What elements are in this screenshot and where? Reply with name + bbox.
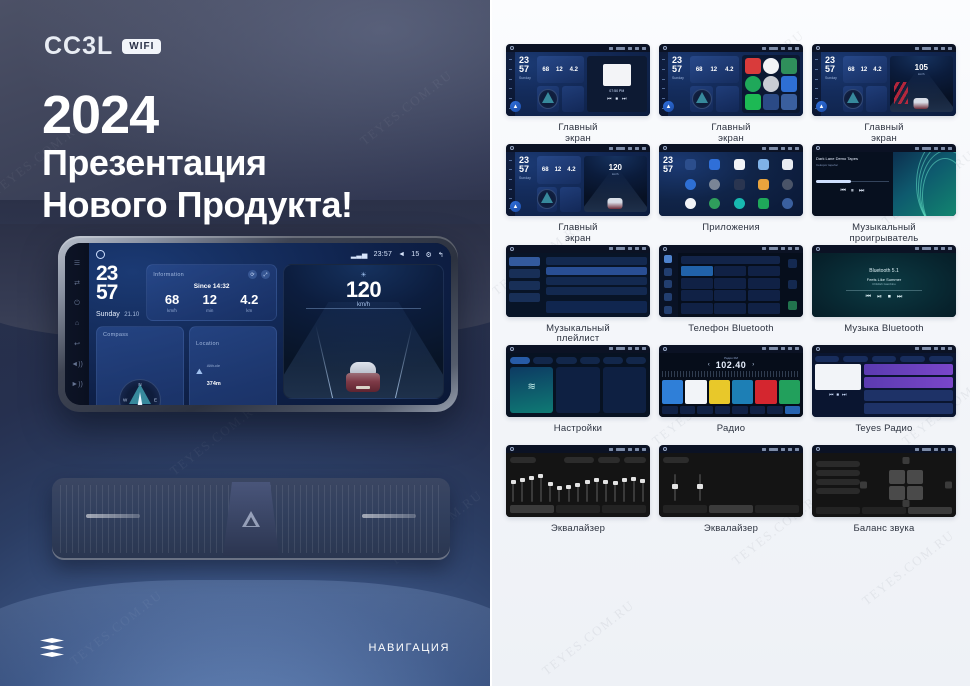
screenshot-thumbnail[interactable]: Bluetooth 5.1 Feels Like Summer Childish… xyxy=(812,245,956,317)
eq-band[interactable] xyxy=(549,482,551,502)
thumbnail-caption: Музыка Bluetooth xyxy=(844,324,924,335)
stop-icon[interactable]: ⏹ xyxy=(888,294,891,301)
refresh-icon[interactable]: ⟳ xyxy=(248,270,257,279)
favorite-icon[interactable] xyxy=(788,259,797,268)
thumbnail-caption: Teyes Радио xyxy=(855,424,912,435)
sidebar-item[interactable] xyxy=(509,281,540,290)
page-title: 2024 Презентация Нового Продукта! xyxy=(42,88,353,227)
list-item[interactable] xyxy=(546,277,647,285)
volume-up-key-icon[interactable]: ►)) xyxy=(71,381,83,388)
eq-band[interactable] xyxy=(521,478,523,502)
contacts-tab-icon[interactable] xyxy=(664,268,672,276)
tab-balance[interactable] xyxy=(602,505,646,513)
next-icon[interactable]: ⏭ xyxy=(622,96,627,102)
compass-ring: N S W E xyxy=(119,379,161,405)
option-button[interactable] xyxy=(598,457,620,463)
lane-warning-graphic xyxy=(894,82,908,104)
thumbnail-caption: Главный экран xyxy=(558,223,597,244)
tab-eq[interactable] xyxy=(663,505,707,513)
option-button[interactable] xyxy=(624,457,646,463)
preset-item[interactable] xyxy=(816,461,860,467)
prev-icon[interactable]: ⏮ xyxy=(829,392,834,398)
teyes-radio-navbar[interactable] xyxy=(815,356,953,362)
list-item[interactable] xyxy=(546,267,647,275)
call-icon[interactable] xyxy=(788,301,797,310)
key-hash[interactable] xyxy=(748,303,780,314)
tab-wifi[interactable] xyxy=(510,357,530,364)
album-art xyxy=(603,64,631,86)
trip-stat-value: 68 xyxy=(848,67,855,73)
gallery-item[interactable]: Баланс звука xyxy=(812,445,956,545)
clock-weekday: Sunday xyxy=(825,76,837,80)
screenshot-thumbnail[interactable] xyxy=(812,445,956,517)
app-icon[interactable] xyxy=(758,179,769,190)
gallery-item[interactable]: Эквалайзер xyxy=(506,445,650,545)
preset-item[interactable] xyxy=(816,479,860,485)
balance-down-arrow[interactable] xyxy=(902,500,909,507)
gear-icon[interactable]: ⚙ xyxy=(425,251,431,259)
watermark: TEYES.COM.RU xyxy=(539,597,638,679)
pause-icon[interactable]: ⏸ xyxy=(851,188,854,195)
app-icon[interactable] xyxy=(734,179,745,190)
screenshot-gallery: TEYES.COM.RU TEYES.COM.RU TEYES.COM.RU T… xyxy=(492,0,970,686)
radio-frequency: 102.40 xyxy=(716,360,747,370)
home-icon[interactable] xyxy=(96,250,105,259)
app-grid[interactable] xyxy=(675,152,803,216)
screenshot-thumbnail[interactable]: 2357Sunday 68124.2 xyxy=(659,44,803,116)
toolbar-button[interactable] xyxy=(732,406,748,414)
bluetooth-version-label: Bluetooth 5.1 xyxy=(836,268,931,274)
tab-system[interactable] xyxy=(580,357,600,364)
app-icon[interactable] xyxy=(781,94,797,110)
list-item[interactable] xyxy=(546,287,647,295)
key-star[interactable] xyxy=(681,303,713,314)
app-icon[interactable] xyxy=(685,159,696,170)
toolbar-button[interactable] xyxy=(750,406,766,414)
preset-station[interactable] xyxy=(732,380,753,404)
balance-left-arrow[interactable] xyxy=(860,482,867,489)
next-icon[interactable]: ⏭ xyxy=(842,392,847,398)
head-unit-bezel: ☰ ⇄ ⏻ ⌂ ↩ ◄)) ►)) ▂▃▅ 23:57 ◄ xyxy=(58,236,458,412)
hero-year: 2024 xyxy=(42,88,353,142)
head-unit-display[interactable]: ▂▃▅ 23:57 ◄ 15 ⚙ ↰ 23 xyxy=(89,243,451,405)
tab-sound[interactable] xyxy=(556,505,600,513)
keypad-tab-icon[interactable] xyxy=(664,255,672,263)
phone-actions[interactable] xyxy=(783,253,803,317)
app-icon[interactable] xyxy=(685,198,696,209)
vent-slider-right[interactable] xyxy=(362,514,416,518)
gallery-item[interactable]: Телефон Bluetooth xyxy=(659,245,803,345)
app-icon[interactable] xyxy=(763,76,779,92)
key-4[interactable] xyxy=(681,278,713,289)
next-icon[interactable]: ⏭ xyxy=(897,294,902,301)
preset-item[interactable] xyxy=(816,470,860,476)
progress-bar[interactable] xyxy=(846,290,922,291)
head-unit-softkey-rail[interactable]: ☰ ⇄ ⏻ ⌂ ↩ ◄)) ►)) xyxy=(65,243,89,405)
settings-tab-icon[interactable] xyxy=(664,306,672,314)
altitude-value: 374m xyxy=(207,381,221,387)
app-icon[interactable] xyxy=(763,58,779,74)
media-widget[interactable]: 07:50 PM ⏮⏹⏭ xyxy=(587,56,647,112)
tune-down-icon[interactable]: ‹ xyxy=(708,362,710,368)
app-icon[interactable] xyxy=(745,94,761,110)
toolbar-button[interactable] xyxy=(715,406,731,414)
trip-stats: 68 km/h 12 min 4.2 xyxy=(153,293,270,313)
progress-bar[interactable] xyxy=(816,181,889,182)
gallery-item[interactable]: 2357 xyxy=(659,144,803,244)
album-art xyxy=(815,364,861,390)
tab-balance[interactable] xyxy=(755,505,799,513)
stop-icon[interactable]: ⏹ xyxy=(616,96,619,102)
key-5[interactable] xyxy=(714,278,746,289)
app-icon[interactable] xyxy=(781,76,797,92)
eq-band[interactable] xyxy=(596,478,598,502)
app-icon[interactable] xyxy=(709,159,720,170)
screenshot-thumbnail[interactable]: 2357Sunday 68124.2 120 km/h ▲ xyxy=(506,144,650,216)
clock-widget[interactable]: 23 57 Sunday 21.10 xyxy=(96,264,139,321)
power-key-icon[interactable]: ⏻ xyxy=(74,300,80,307)
app-icon[interactable] xyxy=(782,159,793,170)
speed-value: 120 xyxy=(346,279,381,301)
navigation-arrow-icon[interactable]: ▲ xyxy=(510,101,521,112)
tab-sound[interactable] xyxy=(709,505,753,513)
home-icon xyxy=(510,46,514,50)
gallery-item[interactable]: 2357Sunday 68124.2 120 km/h ▲ Главный эк… xyxy=(506,144,650,244)
thumbnail-caption: Эквалайзер xyxy=(551,524,605,535)
playback-controls[interactable]: ⏮ ⏸ ⏭ xyxy=(816,188,889,195)
gallery-item[interactable]: Настройки xyxy=(506,345,650,445)
clock-weekday: Sunday xyxy=(519,76,531,80)
key-2[interactable] xyxy=(714,266,746,277)
track-title: Dark Lane Demo Tapes xyxy=(816,156,889,161)
compass-card[interactable]: Compass N S W E xyxy=(96,326,184,405)
prev-icon[interactable]: ⏮ xyxy=(840,188,845,195)
eq-band[interactable] xyxy=(605,480,607,502)
play-pause-icon[interactable]: ⏯ xyxy=(877,294,882,301)
gallery-item[interactable]: ⏮⏹⏭ Teyes Радио xyxy=(812,345,956,445)
home-icon xyxy=(510,146,514,150)
hazard-light-button[interactable] xyxy=(223,482,279,556)
screenshot-thumbnail[interactable]: 2357Sunday 68124.2 07:50 PM ⏮⏹⏭ ▲ xyxy=(506,44,650,116)
trip-stat-value: 4.2 xyxy=(873,67,881,73)
tab-sound[interactable] xyxy=(533,357,553,364)
home-icon xyxy=(663,46,667,50)
frequency-dial[interactable] xyxy=(662,371,800,377)
nav-item[interactable] xyxy=(900,356,924,362)
thumbnail-caption: Музыкальный проигрыватель xyxy=(850,223,919,244)
gallery-item[interactable]: Bluetooth 5.1 Feels Like Summer Childish… xyxy=(812,245,956,345)
prev-icon[interactable]: ⏮ xyxy=(607,96,612,102)
app-icon[interactable] xyxy=(745,58,761,74)
more-settings-panel[interactable] xyxy=(603,367,646,413)
list-item[interactable] xyxy=(864,364,953,375)
clock-minutes: 57 xyxy=(825,65,837,74)
navigation-arrow-icon[interactable]: ▲ xyxy=(663,101,674,112)
key-9[interactable] xyxy=(748,290,780,301)
tab-display[interactable] xyxy=(556,357,576,364)
sidebar-item[interactable] xyxy=(509,269,540,278)
back-icon[interactable]: ↰ xyxy=(438,251,444,259)
screenshot-thumbnail[interactable]: ⏮⏹⏭ xyxy=(812,345,956,417)
toolbar-button[interactable] xyxy=(767,406,783,414)
gallery-item[interactable]: Dark Lane Demo Tapes Cekopor tapefoc ⏮ ⏸… xyxy=(812,144,956,244)
nav-item[interactable] xyxy=(815,356,839,362)
app-icon[interactable] xyxy=(745,76,761,92)
preset-station[interactable] xyxy=(685,380,706,404)
home-icon xyxy=(510,347,514,351)
media-controls[interactable]: ⏮⏹⏭ xyxy=(607,96,627,102)
balance-preset-list[interactable] xyxy=(816,457,860,513)
gallery-item[interactable]: 2357Sunday 68124.2 xyxy=(659,44,803,144)
fader[interactable] xyxy=(699,474,701,501)
gallery-item[interactable]: Музыкальный плейлист xyxy=(506,245,650,345)
track-artist: Cekopor tapefoc xyxy=(816,163,889,167)
audio-visualizer xyxy=(893,152,956,216)
clock-weekday: Sunday xyxy=(519,176,531,180)
drive-assist-panel[interactable]: 120 km/h xyxy=(584,156,647,212)
track-list[interactable] xyxy=(543,253,650,317)
list-item[interactable] xyxy=(864,377,953,388)
gallery-item[interactable]: 2357Sunday 68124.2 07:50 PM ⏮⏹⏭ ▲ Главны… xyxy=(506,44,650,144)
lane-line-right xyxy=(395,325,413,398)
menu-key-icon[interactable]: ☰ xyxy=(74,260,80,267)
information-card-title: Information xyxy=(153,272,184,278)
dialed-number-field[interactable] xyxy=(681,256,780,264)
tab-sound[interactable] xyxy=(862,507,906,514)
thumbnail-caption: Эквалайзер xyxy=(704,524,758,535)
preset-selector[interactable] xyxy=(510,457,536,463)
gallery-grid: 2357Sunday 68124.2 07:50 PM ⏮⏹⏭ ▲ Главны… xyxy=(506,44,956,545)
tab-about[interactable] xyxy=(603,357,623,364)
home-icon xyxy=(663,447,667,451)
clock-weekday: Sunday xyxy=(96,311,120,318)
home-icon xyxy=(816,447,820,451)
clock-minutes: 57 xyxy=(672,65,684,74)
screenshot-thumbnail[interactable] xyxy=(659,445,803,517)
vent-slider-left[interactable] xyxy=(86,514,140,518)
screenshot-thumbnail[interactable]: Dark Lane Demo Tapes Cekopor tapefoc ⏮ ⏸… xyxy=(812,144,956,216)
eq-band-sliders[interactable] xyxy=(510,466,646,505)
trip-stat-unit: km/h xyxy=(165,308,179,313)
backspace-icon[interactable] xyxy=(788,280,797,289)
information-card[interactable]: Information ⟳ ⤢ Since 14:32 xyxy=(146,264,277,321)
app-icon[interactable] xyxy=(734,159,745,170)
screenshot-thumbnail[interactable] xyxy=(659,245,803,317)
radio-toolbar[interactable] xyxy=(662,406,800,414)
status-bar: ▂▃▅ 23:57 ◄ 15 ⚙ ↰ xyxy=(96,249,444,260)
list-item[interactable] xyxy=(864,390,953,401)
trip-stat-value: 68 xyxy=(696,67,703,73)
eq-band[interactable] xyxy=(568,485,570,502)
balance-right-arrow[interactable] xyxy=(945,482,952,489)
key-8[interactable] xyxy=(714,290,746,301)
eq-band[interactable] xyxy=(614,481,616,502)
equalizer-footer-tabs[interactable] xyxy=(510,505,646,513)
app-dock[interactable] xyxy=(742,55,800,113)
wifi-icon: ▂▃▅ xyxy=(351,251,368,259)
tab-balance[interactable] xyxy=(908,507,952,514)
sound-effect-tiles[interactable] xyxy=(717,482,799,486)
toolbar-button[interactable] xyxy=(662,406,678,414)
app-icon[interactable] xyxy=(763,94,779,110)
eq-band[interactable] xyxy=(577,483,579,502)
settings-tabs[interactable] xyxy=(510,357,646,364)
volume-icon[interactable]: ◄ xyxy=(398,251,405,258)
screenshot-thumbnail[interactable]: 2357Sunday 68124.2 105 km/h ▲ xyxy=(812,44,956,116)
app-icon[interactable] xyxy=(782,179,793,190)
drive-assist-panel[interactable]: 105 km/h xyxy=(890,56,953,112)
clock-minutes: 57 xyxy=(519,165,531,174)
search-icon[interactable] xyxy=(664,280,672,288)
playback-controls[interactable]: ⏮ ⏯ ⏹ ⏭ xyxy=(836,294,931,301)
app-icon[interactable] xyxy=(709,179,720,190)
tab-more[interactable] xyxy=(626,357,646,364)
head-unit-left-column: 23 57 Sunday 21.10 Information xyxy=(96,264,277,399)
fader[interactable] xyxy=(674,474,676,501)
nav-item[interactable] xyxy=(929,356,953,362)
trip-stat: 68 km/h xyxy=(165,293,179,313)
preset-station[interactable] xyxy=(755,380,776,404)
gallery-item[interactable]: Радио FM ‹ 102.40 › xyxy=(659,345,803,445)
clock-minutes: 57 xyxy=(519,65,531,74)
eq-band[interactable] xyxy=(531,476,533,502)
home-icon xyxy=(510,447,514,451)
nav-item[interactable] xyxy=(843,356,867,362)
app-icon[interactable] xyxy=(734,198,745,209)
screenshot-thumbnail[interactable] xyxy=(506,245,650,317)
lane-line-left xyxy=(315,325,333,398)
nav-item[interactable] xyxy=(872,356,896,362)
key-6[interactable] xyxy=(748,278,780,289)
mode-key-icon[interactable]: ⇄ xyxy=(74,280,80,287)
balance-stage[interactable] xyxy=(860,457,952,513)
navigation-arrow-icon[interactable]: ▲ xyxy=(816,101,827,112)
now-playing-bar[interactable] xyxy=(546,301,647,313)
list-item[interactable] xyxy=(546,257,647,265)
clock-minutes: 57 xyxy=(96,283,139,302)
thumbnail-caption: Баланс звука xyxy=(854,524,915,535)
equalizer-header[interactable] xyxy=(510,457,646,463)
playback-controls[interactable]: ⏮⏹⏭ xyxy=(815,392,861,398)
app-icon[interactable] xyxy=(685,179,696,190)
clock-minutes: 57 xyxy=(663,165,673,174)
playlist-sidebar[interactable] xyxy=(506,253,543,317)
preset-item[interactable] xyxy=(816,488,860,494)
station-list[interactable] xyxy=(864,364,953,414)
prev-icon[interactable]: ⏮ xyxy=(866,294,871,301)
sidebar-item[interactable] xyxy=(509,257,540,266)
trip-stat-value: 4.2 xyxy=(725,67,733,73)
credit-usage-panel[interactable] xyxy=(556,367,599,413)
app-icon[interactable] xyxy=(758,159,769,170)
wifi-badge: WIFI xyxy=(122,39,161,54)
key-3[interactable] xyxy=(748,266,780,277)
radio-presets[interactable] xyxy=(662,380,800,404)
gallery-item[interactable]: 2357Sunday 68124.2 105 km/h ▲ Главный эк… xyxy=(812,44,956,144)
trip-stat-value: 68 xyxy=(542,167,549,173)
balance-footer-tabs[interactable] xyxy=(816,507,952,514)
gallery-item[interactable]: Эквалайзер xyxy=(659,445,803,545)
toolbar-button[interactable] xyxy=(697,406,713,414)
thumbnail-caption: Настройки xyxy=(554,424,602,435)
thumbnail-caption: Главный экран xyxy=(864,123,903,144)
trip-stat-value: 12 xyxy=(710,67,717,73)
trip-stat-unit: km xyxy=(240,308,258,313)
app-icon[interactable] xyxy=(758,198,769,209)
expand-icon[interactable]: ⤢ xyxy=(261,270,270,279)
toggle-button[interactable] xyxy=(564,457,594,463)
drive-assist-panel[interactable]: ☀ 120 km/h xyxy=(283,264,444,399)
preset-station[interactable] xyxy=(662,380,683,404)
sound-faders[interactable] xyxy=(663,467,712,501)
search-icon[interactable] xyxy=(680,406,696,414)
compass-west-label: W xyxy=(123,398,127,403)
back-key-icon[interactable]: ↩ xyxy=(74,341,80,348)
home-key-icon[interactable]: ⌂ xyxy=(75,320,79,327)
key-7[interactable] xyxy=(681,290,713,301)
horizon-line xyxy=(306,308,421,309)
location-card[interactable]: Location ⛰ Altitude 374m xyxy=(189,326,277,405)
tab-eq[interactable] xyxy=(510,505,554,513)
seat-diagram xyxy=(889,470,923,500)
dial-keypad[interactable] xyxy=(681,266,780,314)
eq-band[interactable] xyxy=(586,480,588,502)
home-icon xyxy=(663,247,667,251)
eq-band[interactable] xyxy=(642,479,644,502)
wifi-panel[interactable] xyxy=(510,367,553,413)
sidebar-item[interactable] xyxy=(509,293,540,302)
trip-stat-value: 12 xyxy=(555,167,562,173)
media-time: 07:50 PM xyxy=(609,89,624,93)
volume-down-key-icon[interactable]: ◄)) xyxy=(71,361,83,368)
layers-icon xyxy=(40,638,64,658)
hero-title-line-1: Презентация xyxy=(42,142,353,184)
screenshot-thumbnail[interactable]: Радио FM ‹ 102.40 › xyxy=(659,345,803,417)
call-log-icon[interactable] xyxy=(664,293,672,301)
lead-vehicle-graphic xyxy=(346,362,380,392)
preset-station[interactable] xyxy=(779,380,800,404)
eq-band[interactable] xyxy=(558,486,560,502)
thumbnail-caption: Приложения xyxy=(702,223,760,234)
preset-station[interactable] xyxy=(709,380,730,404)
phone-sidebar[interactable] xyxy=(659,253,678,317)
screenshot-thumbnail[interactable]: 2357 xyxy=(659,144,803,216)
thumbnail-caption: Радио xyxy=(717,424,745,435)
next-icon[interactable]: ⏭ xyxy=(859,188,864,195)
key-0[interactable] xyxy=(714,303,746,314)
screenshot-thumbnail[interactable] xyxy=(506,345,650,417)
toolbar-button[interactable] xyxy=(785,406,801,414)
trip-stat-unit: min xyxy=(203,308,217,313)
app-icon[interactable] xyxy=(709,198,720,209)
air-vent-assembly xyxy=(52,478,450,560)
head-unit-screen-frame: ☰ ⇄ ⏻ ⌂ ↩ ◄)) ►)) ▂▃▅ 23:57 ◄ xyxy=(65,243,451,405)
eq-band[interactable] xyxy=(633,477,635,502)
tab-eq[interactable] xyxy=(816,507,860,514)
eq-band[interactable] xyxy=(623,478,625,502)
eq-band[interactable] xyxy=(512,480,514,502)
key-1[interactable] xyxy=(681,266,713,277)
list-item[interactable] xyxy=(864,403,953,414)
eq-band[interactable] xyxy=(540,474,542,502)
app-icon[interactable] xyxy=(781,58,797,74)
stop-icon[interactable]: ⏹ xyxy=(837,392,840,398)
trip-stat: 4.2 km xyxy=(240,293,258,313)
app-icon[interactable] xyxy=(782,198,793,209)
tune-up-icon[interactable]: › xyxy=(752,362,754,368)
screenshot-thumbnail[interactable] xyxy=(506,445,650,517)
balance-up-arrow[interactable] xyxy=(902,457,909,464)
